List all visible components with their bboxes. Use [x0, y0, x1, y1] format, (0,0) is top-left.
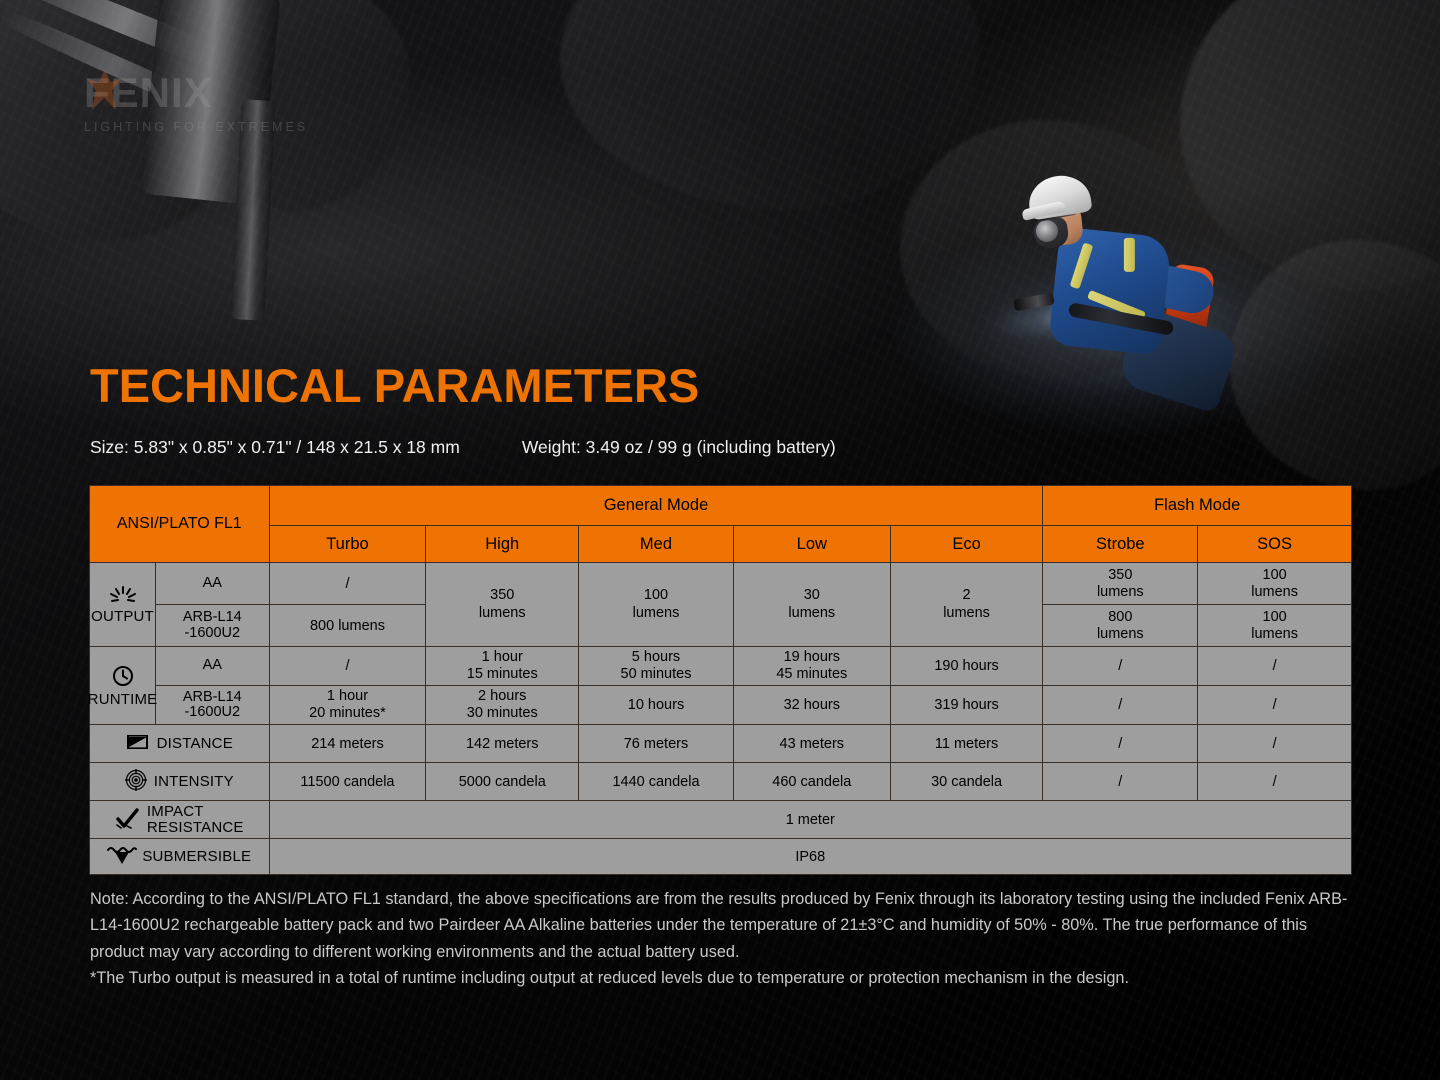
cell-intensity-low: 460 candela: [733, 763, 890, 801]
clock-icon: [111, 664, 135, 692]
beam-distance-icon: [126, 733, 150, 755]
header-mode-high: High: [426, 526, 579, 563]
logo-tagline: LIGHTING FOR EXTREMES: [84, 120, 334, 134]
cell-distance-turbo: 214 meters: [269, 725, 426, 763]
cell-intensity-sos: /: [1198, 763, 1352, 801]
cell-distance-med: 76 meters: [579, 725, 734, 763]
cell-output-pack-strobe: 800 lumens: [1043, 605, 1198, 647]
row-label-impact-line1: IMPACT: [147, 804, 204, 820]
header-flash-mode: Flash Mode: [1043, 486, 1352, 526]
cell-output-pack-strobe-unit: lumens: [1097, 626, 1144, 643]
cell-impact-resistance-value: 1 meter: [269, 801, 1351, 839]
cell-output-med-value: 100: [644, 587, 668, 604]
size-text: Size: 5.83" x 0.85" x 0.71" / 148 x 21.5…: [90, 437, 460, 458]
row-label-output-text: OUTPUT: [91, 609, 154, 625]
header-mode-strobe: Strobe: [1043, 526, 1198, 563]
row-label-runtime: RUNTIME: [90, 647, 156, 725]
cell-distance-strobe: /: [1043, 725, 1198, 763]
cell-runtime-pack-high-l1: 2 hours: [478, 688, 526, 705]
row-label-submersible: SUBMERSIBLE: [90, 839, 270, 875]
cell-runtime-pack-sos: /: [1198, 686, 1352, 725]
cell-output-pack-sos-unit: lumens: [1251, 626, 1298, 643]
cell-output-aa-strobe-unit: lumens: [1097, 584, 1144, 601]
cell-runtime-aa-sos: /: [1198, 647, 1352, 686]
cell-intensity-strobe: /: [1043, 763, 1198, 801]
cell-runtime-aa-low-l2: 45 minutes: [776, 666, 847, 683]
cell-output-eco: 2 lumens: [890, 563, 1043, 647]
fenix-logo: FENIX LIGHTING FOR EXTREMES: [84, 72, 334, 134]
cell-runtime-aa-high-l2: 15 minutes: [467, 666, 538, 683]
row-label-intensity: INTENSITY: [90, 763, 270, 801]
cell-output-high-unit: lumens: [479, 605, 526, 622]
cell-output-eco-value: 2: [963, 587, 971, 604]
hi-vis-stripe: [1070, 242, 1094, 289]
miner-photo-subject: [1010, 170, 1240, 400]
table-row-runtime-aa: RUNTIME AA / 1 hour 15 minutes 5 hours 5…: [90, 647, 1352, 686]
cell-distance-eco: 11 meters: [890, 725, 1043, 763]
cell-output-low-value: 30: [804, 587, 820, 604]
battery-label-aa: AA: [156, 647, 270, 686]
cell-runtime-pack-high-l2: 30 minutes: [467, 705, 538, 722]
header-mode-med: Med: [579, 526, 734, 563]
water-drop-icon: [107, 845, 137, 869]
battery-label-aa: AA: [156, 563, 270, 605]
cell-runtime-aa-low: 19 hours 45 minutes: [733, 647, 890, 686]
header-ansi-plato: ANSI/PLATO FL1: [90, 486, 270, 563]
cell-runtime-aa-high: 1 hour 15 minutes: [426, 647, 579, 686]
cell-output-aa-strobe: 350 lumens: [1043, 563, 1198, 605]
cell-output-med: 100 lumens: [579, 563, 734, 647]
cell-output-pack-sos: 100 lumens: [1198, 605, 1352, 647]
footnote-block: Note: According to the ANSI/PLATO FL1 st…: [90, 886, 1355, 992]
cell-runtime-aa-low-l1: 19 hours: [784, 649, 840, 666]
cell-output-med-unit: lumens: [633, 605, 680, 622]
cell-intensity-turbo: 11500 candela: [269, 763, 426, 801]
cell-runtime-aa-eco: 190 hours: [890, 647, 1043, 686]
footnote-turbo: *The Turbo output is measured in a total…: [90, 965, 1355, 991]
cell-output-aa-sos-value: 100: [1263, 567, 1287, 584]
cell-intensity-med: 1440 candela: [579, 763, 734, 801]
cell-output-aa-sos-unit: lumens: [1251, 584, 1298, 601]
cell-output-eco-unit: lumens: [943, 605, 990, 622]
cell-intensity-eco: 30 candela: [890, 763, 1043, 801]
logo-wordmark: FENIX: [84, 72, 334, 114]
cell-output-aa-turbo: /: [269, 563, 426, 605]
cell-runtime-aa-strobe: /: [1043, 647, 1198, 686]
cell-output-pack-strobe-value: 800: [1108, 609, 1132, 626]
row-label-output: OUTPUT: [90, 563, 156, 647]
cell-runtime-aa-med-l2: 50 minutes: [621, 666, 692, 683]
weight-text: Weight: 3.49 oz / 99 g (including batter…: [522, 437, 836, 458]
battery-label-pack: ARB-L14 -1600U2: [156, 686, 270, 725]
table-row-intensity: INTENSITY 11500 candela 5000 candela 144…: [90, 763, 1352, 801]
respirator-filter: [1036, 220, 1058, 242]
table-row-runtime-pack: ARB-L14 -1600U2 1 hour 20 minutes* 2 hou…: [90, 686, 1352, 725]
cell-runtime-aa-med-l1: 5 hours: [632, 649, 680, 666]
battery-label-pack: ARB-L14 -1600U2: [156, 605, 270, 647]
cave-rock-shape: [1230, 240, 1440, 490]
battery-label-pack-line2: -1600U2: [184, 626, 240, 641]
row-label-runtime-text: RUNTIME: [88, 692, 158, 708]
table-row-impact-resistance: IMPACT RESISTANCE 1 meter: [90, 801, 1352, 839]
target-intensity-icon: [125, 769, 147, 795]
technical-parameters-table: ANSI/PLATO FL1 General Mode Flash Mode T…: [89, 485, 1352, 875]
spec-summary: Size: 5.83" x 0.85" x 0.71" / 148 x 21.5…: [90, 437, 836, 458]
impact-check-icon: [115, 807, 141, 833]
table-row-output-aa: OUTPUT AA / 350 lumens 100 lumens 30: [90, 563, 1352, 605]
header-mode-low: Low: [733, 526, 890, 563]
cell-output-pack-sos-value: 100: [1263, 609, 1287, 626]
row-label-distance-text: DISTANCE: [157, 735, 233, 752]
row-label-intensity-text: INTENSITY: [154, 773, 234, 790]
cell-runtime-pack-strobe: /: [1043, 686, 1198, 725]
cell-runtime-pack-turbo-l1: 1 hour: [327, 688, 368, 705]
cell-output-high: 350 lumens: [426, 563, 579, 647]
cell-submersible-value: IP68: [269, 839, 1351, 875]
header-mode-eco: Eco: [890, 526, 1043, 563]
cell-runtime-aa-turbo: /: [269, 647, 426, 686]
flashlight-in-hand: [1013, 293, 1054, 312]
header-general-mode: General Mode: [269, 486, 1043, 526]
row-label-impact-resistance: IMPACT RESISTANCE: [90, 801, 270, 839]
cell-runtime-pack-turbo: 1 hour 20 minutes*: [269, 686, 426, 725]
cell-output-aa-strobe-value: 350: [1108, 567, 1132, 584]
cave-rock-shape: [560, 0, 980, 210]
table-row-distance: DISTANCE 214 meters 142 meters 76 meters…: [90, 725, 1352, 763]
hi-vis-stripe: [1124, 238, 1135, 272]
table-row-submersible: SUBMERSIBLE IP68: [90, 839, 1352, 875]
row-label-distance: DISTANCE: [90, 725, 270, 763]
row-label-submersible-text: SUBMERSIBLE: [142, 848, 251, 865]
sunburst-icon: [108, 585, 138, 609]
miner-torso: [1048, 226, 1172, 355]
header-mode-sos: SOS: [1198, 526, 1352, 563]
table-header-row-2: Turbo High Med Low Eco Strobe SOS: [90, 526, 1352, 563]
cell-output-low: 30 lumens: [733, 563, 890, 647]
cell-runtime-pack-eco: 319 hours: [890, 686, 1043, 725]
cell-runtime-pack-high: 2 hours 30 minutes: [426, 686, 579, 725]
cell-output-low-unit: lumens: [788, 605, 835, 622]
cell-runtime-pack-low: 32 hours: [733, 686, 890, 725]
header-mode-turbo: Turbo: [269, 526, 426, 563]
battery-label-pack-line1: ARB-L14: [183, 610, 242, 625]
cell-intensity-high: 5000 candela: [426, 763, 579, 801]
cell-output-aa-sos: 100 lumens: [1198, 563, 1352, 605]
cell-runtime-aa-high-l1: 1 hour: [482, 649, 523, 666]
cell-distance-sos: /: [1198, 725, 1352, 763]
cell-distance-low: 43 meters: [733, 725, 890, 763]
cell-output-pack-turbo: 800 lumens: [269, 605, 426, 647]
row-label-impact-line2: RESISTANCE: [147, 820, 244, 836]
battery-label-pack-line1: ARB-L14: [183, 690, 242, 705]
battery-label-pack-line2: -1600U2: [184, 705, 240, 720]
cell-output-high-value: 350: [490, 587, 514, 604]
cell-runtime-pack-turbo-l2: 20 minutes*: [309, 705, 386, 722]
cell-distance-high: 142 meters: [426, 725, 579, 763]
cell-runtime-aa-med: 5 hours 50 minutes: [579, 647, 734, 686]
cell-runtime-pack-med: 10 hours: [579, 686, 734, 725]
table-header-row-1: ANSI/PLATO FL1 General Mode Flash Mode: [90, 486, 1352, 526]
footnote-standard: Note: According to the ANSI/PLATO FL1 st…: [90, 886, 1355, 965]
page-title: TECHNICAL PARAMETERS: [90, 362, 699, 409]
